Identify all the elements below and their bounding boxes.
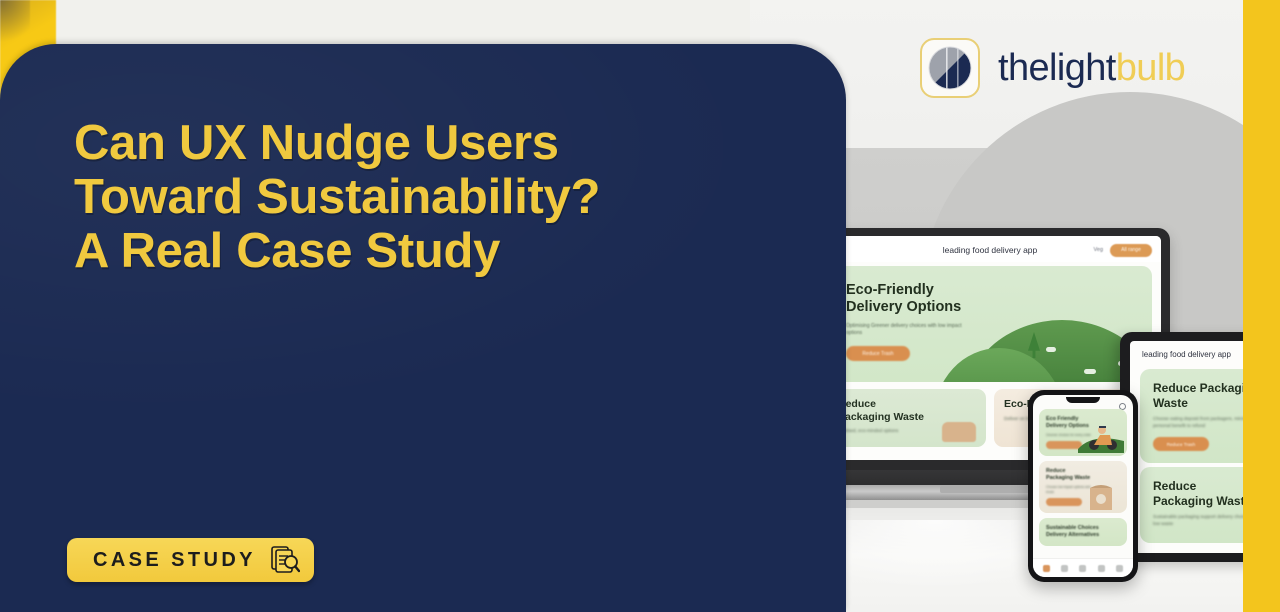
orders-icon[interactable] bbox=[1061, 565, 1068, 572]
phone-card-3[interactable]: Sustainable Choices Delivery Alternative… bbox=[1039, 518, 1127, 546]
tablet-nav-title: leading food delivery app bbox=[1130, 341, 1243, 365]
laptop-hero-subtext: Optimising Greener delivery choices with… bbox=[846, 323, 966, 337]
brand-word-dark: thelight bbox=[998, 47, 1116, 89]
eco-icon[interactable] bbox=[1079, 565, 1086, 572]
case-study-badge-label: CASE STUDY bbox=[93, 549, 256, 572]
tablet-card-2[interactable]: Reduce Packaging Waste Sustainable packa… bbox=[1140, 467, 1243, 543]
phone-card2-button[interactable] bbox=[1046, 498, 1082, 506]
phone-card1-line1: Eco Friendly bbox=[1046, 416, 1127, 423]
laptop-card1-line1: Reduce bbox=[838, 398, 986, 411]
phone-card-1[interactable]: Eco Friendly Delivery Options Greener ch… bbox=[1039, 409, 1127, 456]
laptop-nav-title: leading food delivery app bbox=[943, 245, 1038, 255]
page-title: Can UX Nudge Users Toward Sustainability… bbox=[74, 116, 734, 278]
laptop-card1-image bbox=[942, 422, 976, 442]
brand-wordmark: thelightbulb bbox=[998, 49, 1185, 87]
laptop-card1-sub: Digitised, eco-minded options bbox=[838, 428, 916, 434]
document-magnifier-icon bbox=[270, 544, 300, 576]
laptop-nav-link[interactable]: Veg bbox=[1094, 247, 1103, 253]
tablet-screen: leading food delivery app Reduce Packagi… bbox=[1130, 341, 1243, 553]
laptop-trackpad bbox=[940, 486, 1036, 493]
case-study-badge[interactable]: CASE STUDY bbox=[67, 538, 314, 582]
case-study-banner: leading food delivery app Veg All range … bbox=[0, 0, 1280, 612]
profile-icon[interactable] bbox=[1116, 565, 1123, 572]
phone-card3-line1: Sustainable Choices bbox=[1046, 525, 1127, 532]
brand-logo[interactable]: thelightbulb bbox=[920, 38, 1185, 98]
laptop-hero-button[interactable]: Reduce Trash bbox=[846, 346, 910, 361]
home-icon[interactable] bbox=[1043, 565, 1050, 572]
tablet-card1-line2: Waste bbox=[1153, 396, 1243, 411]
phone-card2-line1: Reduce bbox=[1046, 468, 1127, 475]
tablet-card2-sub: Sustainable packaging support delivery c… bbox=[1153, 514, 1243, 527]
laptop-nav: leading food delivery app Veg All range bbox=[819, 236, 1161, 262]
tablet-mockup: leading food delivery app Reduce Packagi… bbox=[1120, 332, 1243, 562]
laptop-hero-card: Eco-Friendly Delivery Options Optimising… bbox=[828, 266, 1152, 382]
tablet-card1-button[interactable]: Reduce Trash bbox=[1153, 437, 1209, 451]
laptop-hero-heading-2: Delivery Options bbox=[846, 299, 1152, 316]
delivery-scooter-icon bbox=[1078, 423, 1124, 453]
phone-notch bbox=[1066, 397, 1100, 403]
phone-card3-line2: Delivery Alternatives bbox=[1046, 532, 1127, 539]
title-line-1: Can UX Nudge Users bbox=[74, 116, 734, 170]
tablet-card1-sub: Choose eating deposit front packagers, m… bbox=[1153, 416, 1243, 429]
brand-word-accent: bulb bbox=[1116, 47, 1185, 89]
accent-strip-right bbox=[1243, 0, 1280, 612]
tablet-card2-line2: Packaging Waste bbox=[1153, 494, 1243, 509]
tablet-card1-line1: Reduce Packaging bbox=[1153, 381, 1243, 396]
menu-icon[interactable] bbox=[1098, 565, 1105, 572]
laptop-card-reduce-packaging[interactable]: Reduce Packaging Waste Digitised, eco-mi… bbox=[828, 389, 986, 447]
phone-mockup: Eco Friendly Delivery Options Greener ch… bbox=[1028, 390, 1138, 582]
phone-screen: Eco Friendly Delivery Options Greener ch… bbox=[1033, 395, 1133, 577]
title-line-3: A Real Case Study bbox=[74, 224, 734, 278]
tablet-card-1[interactable]: Reduce Packaging Waste Choose eating dep… bbox=[1140, 369, 1243, 463]
paper-bag-icon bbox=[1078, 480, 1124, 510]
phone-card1-button[interactable] bbox=[1046, 441, 1082, 449]
lightbulb-circle-mark-icon bbox=[920, 38, 980, 98]
cloud-icon-3 bbox=[1046, 347, 1056, 352]
title-line-2: Toward Sustainability? bbox=[74, 170, 734, 224]
tablet-card2-line1: Reduce bbox=[1153, 479, 1243, 494]
phone-card-2[interactable]: Reduce Packaging Waste Choose low impact… bbox=[1039, 461, 1127, 513]
phone-bottom-nav[interactable] bbox=[1033, 558, 1133, 577]
cloud-icon-2 bbox=[1084, 369, 1096, 374]
laptop-hero-heading-1: Eco-Friendly bbox=[846, 282, 1152, 299]
laptop-nav-button[interactable]: All range bbox=[1110, 244, 1152, 257]
